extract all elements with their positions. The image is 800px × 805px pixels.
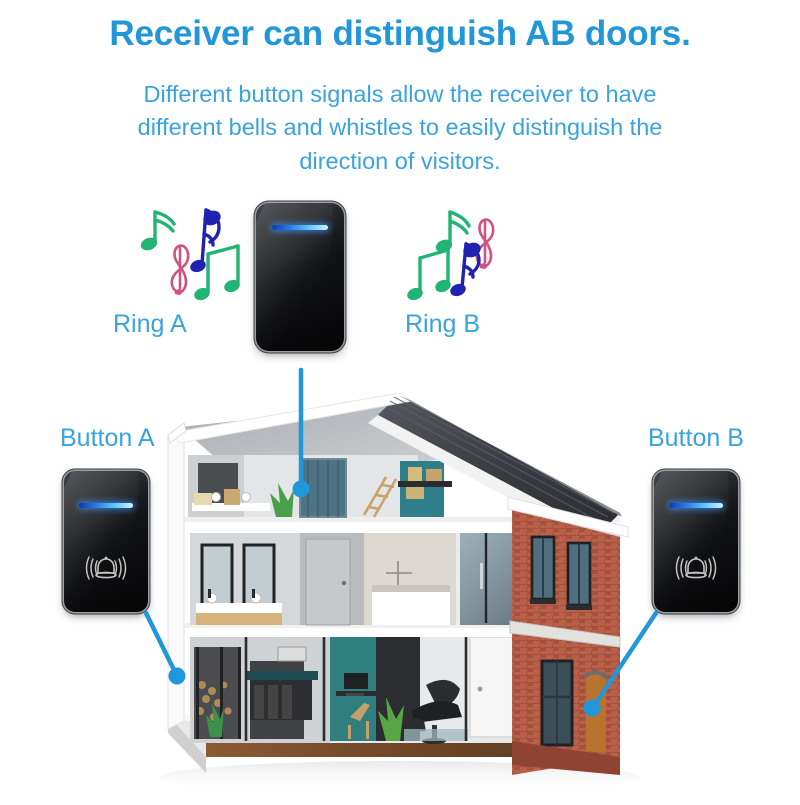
treble-clef-pink-icon [172,246,188,294]
loft-shelf-2 [398,481,452,487]
button-a-doorbell-bell-icon [64,555,148,581]
button-b-device[interactable] [654,471,738,612]
ring-b-label: Ring B [405,310,480,339]
bell-body [98,559,114,573]
page-subtitle: Different button signals allow the recei… [128,78,672,178]
ground-rug [404,729,468,741]
button-a-label: Button A [60,424,155,453]
button-b-doorbell-bell-icon [654,555,738,581]
brick-wing [510,503,620,775]
button-a-led-indicator [79,503,133,508]
ground-desk [246,671,318,720]
study-monitor [344,673,368,689]
loft-blue-door [300,459,346,517]
button-b-led-indicator [669,503,723,508]
brick-arched-door [586,673,606,753]
page-headline: Receiver can distinguish AB doors. [0,14,800,54]
receiver-led-indicator [272,225,328,230]
eighth-note-green-icon [450,212,469,244]
eighth-note-green-icon [155,212,174,242]
music-notes-right-group [404,196,516,304]
eighth-note-blue-head [188,258,207,274]
cutaway-house-illustration [150,385,660,800]
bell-body [688,559,704,573]
music-notes-left-group [134,196,246,304]
receiver-device[interactable] [256,203,344,351]
ring-a-label: Ring A [113,310,187,339]
facade-edge-left [168,423,184,729]
button-b-label: Button B [648,424,744,453]
ground-tv [278,647,306,661]
button-a-device[interactable] [64,471,148,612]
